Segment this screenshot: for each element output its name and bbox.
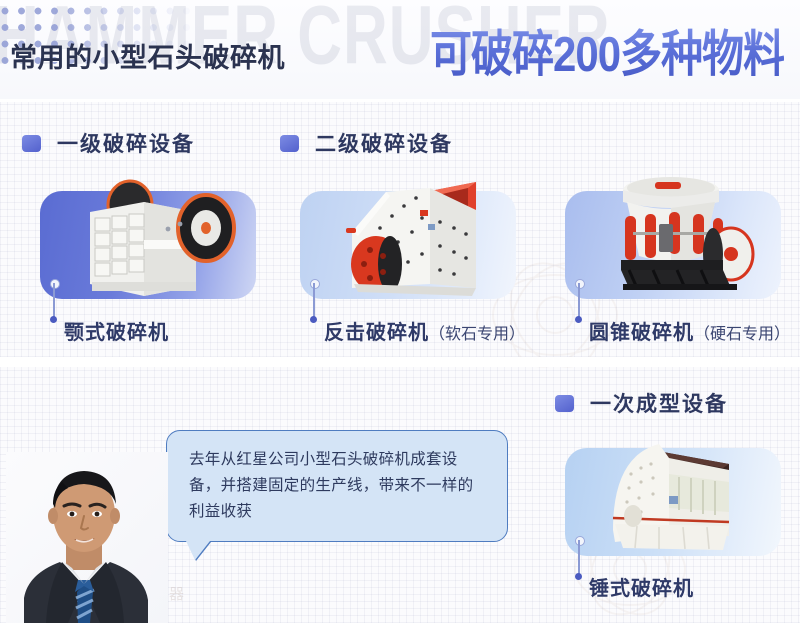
impact-crusher-photo bbox=[308, 166, 513, 306]
section-heading-secondary: 二级破碎设备 bbox=[280, 128, 453, 158]
page-header: HAMMER CRUSHER 常用的小型石头破碎机 可破碎200多种物料 bbox=[0, 0, 800, 100]
hammer-crusher-photo bbox=[573, 420, 778, 562]
connector-knob-icon bbox=[575, 279, 585, 289]
product-note: （软石专用） bbox=[429, 326, 525, 343]
connector-dot-icon bbox=[50, 316, 57, 323]
product-caption-hammer-crusher: 锤式破碎机 bbox=[589, 572, 694, 601]
section-heading-onestep: 一次成型设备 bbox=[555, 388, 728, 418]
product-note: （硬石专用） bbox=[694, 326, 790, 343]
connector-knob-icon bbox=[310, 279, 320, 289]
cone-crusher-photo bbox=[573, 164, 778, 306]
testimonial-bubble-tail bbox=[186, 541, 210, 560]
customer-portrait bbox=[6, 452, 168, 623]
connector-line bbox=[53, 283, 55, 319]
section-label: 二级破碎设备 bbox=[315, 128, 453, 158]
section-label: 一级破碎设备 bbox=[57, 128, 195, 158]
connector-dot-icon bbox=[575, 573, 582, 580]
connector-knob-icon bbox=[50, 279, 60, 289]
product-caption-impact-crusher: 反击破碎机（软石专用） bbox=[324, 316, 525, 345]
connector-dot-icon bbox=[575, 316, 582, 323]
product-caption-cone-crusher: 圆锥破碎机（硬石专用） bbox=[589, 316, 790, 345]
connector-dot-icon bbox=[310, 316, 317, 323]
header-rule bbox=[0, 99, 800, 102]
square-bullet-icon bbox=[555, 395, 574, 412]
connector-knob-icon bbox=[575, 536, 585, 546]
connector-line bbox=[578, 283, 580, 319]
product-caption-jaw-crusher: 颚式破碎机 bbox=[64, 316, 169, 345]
connector-line bbox=[578, 540, 580, 576]
testimonial-bubble: 去年从红星公司小型石头破碎机成套设备，并搭建固定的生产线，带来不一样的利益收获 bbox=[166, 430, 508, 542]
product-name: 反击破碎机 bbox=[324, 322, 429, 344]
section-label: 一次成型设备 bbox=[590, 388, 728, 418]
product-name: 圆锥破碎机 bbox=[589, 322, 694, 344]
section-heading-primary: 一级破碎设备 bbox=[22, 128, 195, 158]
header-subtitle: 可破碎200多种物料 bbox=[430, 24, 784, 85]
infographic-page: 红星机器 红星机器 HAMMER CRUSHER 常用的小型石头破碎机 可破碎2… bbox=[0, 0, 800, 623]
product-name: 颚式破碎机 bbox=[64, 322, 169, 344]
product-name: 锤式破碎机 bbox=[589, 578, 694, 600]
connector-line bbox=[313, 283, 315, 319]
square-bullet-icon bbox=[280, 135, 299, 152]
testimonial-text: 去年从红星公司小型石头破碎机成套设备，并搭建固定的生产线，带来不一样的利益收获 bbox=[189, 447, 487, 525]
section-divider bbox=[0, 357, 800, 367]
square-bullet-icon bbox=[22, 135, 41, 152]
page-title: 常用的小型石头破碎机 bbox=[10, 36, 285, 75]
jaw-crusher-photo bbox=[48, 166, 253, 306]
